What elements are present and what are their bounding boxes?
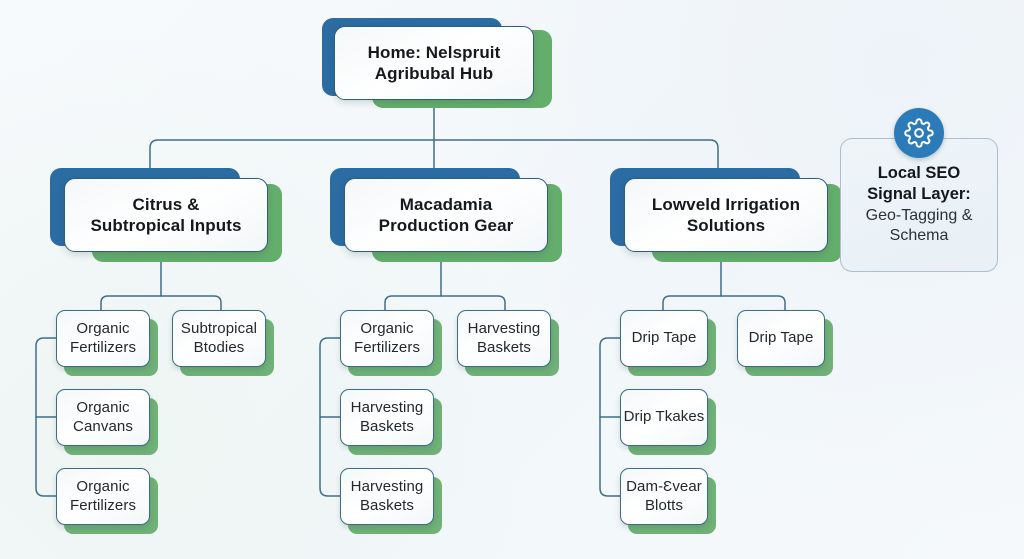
- leaf-card[interactable]: Organic Fertilizers: [340, 310, 434, 367]
- leaf-label: Drip Tkakes: [624, 408, 705, 427]
- leaf-label: Organic Fertilizers: [70, 478, 136, 515]
- leaf-label: Drip Tape: [632, 329, 697, 348]
- leaf-label: Harvesting Baskets: [351, 399, 424, 436]
- gear-glyph: [904, 118, 934, 148]
- leaf-node[interactable]: Organic Canvans: [56, 389, 150, 446]
- leaf-node[interactable]: Dam-Ɛvear Blotts: [620, 468, 708, 525]
- node-label: Citrus & Subtropical Inputs: [90, 194, 241, 236]
- leaf-card[interactable]: Subtropical Btodies: [172, 310, 266, 367]
- leaf-card[interactable]: Drip Tkakes: [620, 389, 708, 446]
- leaf-label-line1: Organic: [360, 320, 413, 337]
- leaf-label: Organic Fertilizers: [354, 320, 420, 357]
- leaf-label-line1: Harvesting: [351, 478, 424, 495]
- node-label-line1: Citrus &: [133, 195, 200, 214]
- leaf-label-line2: Baskets: [360, 497, 414, 514]
- leaf-card[interactable]: Harvesting Baskets: [457, 310, 551, 367]
- seo-strong-line1: Local SEO: [866, 163, 973, 184]
- node-card[interactable]: Lowveld Irrigation Solutions: [624, 178, 828, 252]
- node-label-line2: Agribubal Hub: [375, 64, 493, 83]
- node-label: Macadamia Production Gear: [379, 194, 514, 236]
- node-citrus-subtropical-inputs[interactable]: Citrus & Subtropical Inputs: [50, 168, 282, 264]
- local-seo-signal-panel[interactable]: Local SEO Signal Layer: Geo-Tagging & Sc…: [840, 138, 998, 272]
- leaf-card[interactable]: Organic Canvans: [56, 389, 150, 446]
- leaf-node[interactable]: Organic Fertilizers: [340, 310, 434, 367]
- leaf-label-line1: Drip Tkakes: [624, 408, 705, 425]
- leaf-label-line1: Organic: [76, 399, 129, 416]
- leaf-label-line1: Harvesting: [468, 320, 541, 337]
- gear-icon: [894, 108, 944, 158]
- leaf-label-line2: Blotts: [645, 497, 683, 514]
- leaf-label-line1: Drip Tape: [749, 329, 814, 346]
- leaf-node[interactable]: Drip Tkakes: [620, 389, 708, 446]
- leaf-label-line1: Dam-Ɛvear: [626, 478, 702, 495]
- leaf-card[interactable]: Drip Tape: [620, 310, 708, 367]
- leaf-label-line2: Fertilizers: [70, 339, 136, 356]
- leaf-node[interactable]: Organic Fertilizers: [56, 468, 150, 525]
- leaf-label: Organic Fertilizers: [70, 320, 136, 357]
- seo-sub-line2: Schema: [866, 226, 973, 247]
- leaf-node[interactable]: Harvesting Baskets: [457, 310, 551, 367]
- leaf-label: Drip Tape: [749, 329, 814, 348]
- node-macadamia-production-gear[interactable]: Macadamia Production Gear: [330, 168, 562, 264]
- leaf-card[interactable]: Organic Fertilizers: [56, 310, 150, 367]
- leaf-card[interactable]: Harvesting Baskets: [340, 389, 434, 446]
- leaf-label-line2: Fertilizers: [70, 497, 136, 514]
- leaf-label-line2: Canvans: [73, 418, 133, 435]
- node-label: Home: Nelspruit Agribubal Hub: [368, 42, 501, 84]
- leaf-label-line1: Subtropical: [181, 320, 257, 337]
- node-home[interactable]: Home: Nelspruit Agribubal Hub: [322, 18, 552, 108]
- node-card[interactable]: Macadamia Production Gear: [344, 178, 548, 252]
- leaf-label-line1: Harvesting: [351, 399, 424, 416]
- leaf-card[interactable]: Harvesting Baskets: [340, 468, 434, 525]
- leaf-card[interactable]: Drip Tape: [737, 310, 825, 367]
- leaf-card[interactable]: Organic Fertilizers: [56, 468, 150, 525]
- leaf-label-line1: Organic: [76, 320, 129, 337]
- seo-strong-line2: Signal Layer:: [866, 184, 973, 205]
- seo-panel-text: Local SEO Signal Layer: Geo-Tagging & Sc…: [856, 163, 983, 247]
- node-label-line1: Home: Nelspruit: [368, 43, 501, 62]
- leaf-label: Dam-Ɛvear Blotts: [626, 478, 702, 515]
- seo-sub-line1: Geo-Tagging &: [866, 206, 973, 227]
- leaf-label-line1: Drip Tape: [632, 329, 697, 346]
- node-label-line2: Solutions: [687, 216, 765, 235]
- node-lowveld-irrigation-solutions[interactable]: Lowveld Irrigation Solutions: [610, 168, 842, 264]
- node-label-line1: Macadamia: [400, 195, 493, 214]
- leaf-card[interactable]: Dam-Ɛvear Blotts: [620, 468, 708, 525]
- leaf-node[interactable]: Harvesting Baskets: [340, 468, 434, 525]
- node-label-line1: Lowveld Irrigation: [652, 195, 800, 214]
- leaf-label-line2: Baskets: [477, 339, 531, 356]
- node-label: Lowveld Irrigation Solutions: [652, 194, 800, 236]
- node-label-line2: Production Gear: [379, 216, 514, 235]
- leaf-node[interactable]: Drip Tape: [620, 310, 708, 367]
- leaf-label: Harvesting Baskets: [468, 320, 541, 357]
- leaf-node[interactable]: Organic Fertilizers: [56, 310, 150, 367]
- leaf-label-line2: Btodies: [194, 339, 245, 356]
- leaf-label: Organic Canvans: [73, 399, 133, 436]
- node-card[interactable]: Home: Nelspruit Agribubal Hub: [334, 26, 534, 100]
- leaf-label-line2: Baskets: [360, 418, 414, 435]
- node-card[interactable]: Citrus & Subtropical Inputs: [64, 178, 268, 252]
- leaf-label: Harvesting Baskets: [351, 478, 424, 515]
- leaf-label-line2: Fertilizers: [354, 339, 420, 356]
- leaf-label-line1: Organic: [76, 478, 129, 495]
- diagram-canvas: Home: Nelspruit Agribubal Hub Citrus & S…: [0, 0, 1024, 559]
- node-label-line2: Subtropical Inputs: [90, 216, 241, 235]
- leaf-label: Subtropical Btodies: [181, 320, 257, 357]
- leaf-node[interactable]: Drip Tape: [737, 310, 825, 367]
- leaf-node[interactable]: Subtropical Btodies: [172, 310, 266, 367]
- leaf-node[interactable]: Harvesting Baskets: [340, 389, 434, 446]
